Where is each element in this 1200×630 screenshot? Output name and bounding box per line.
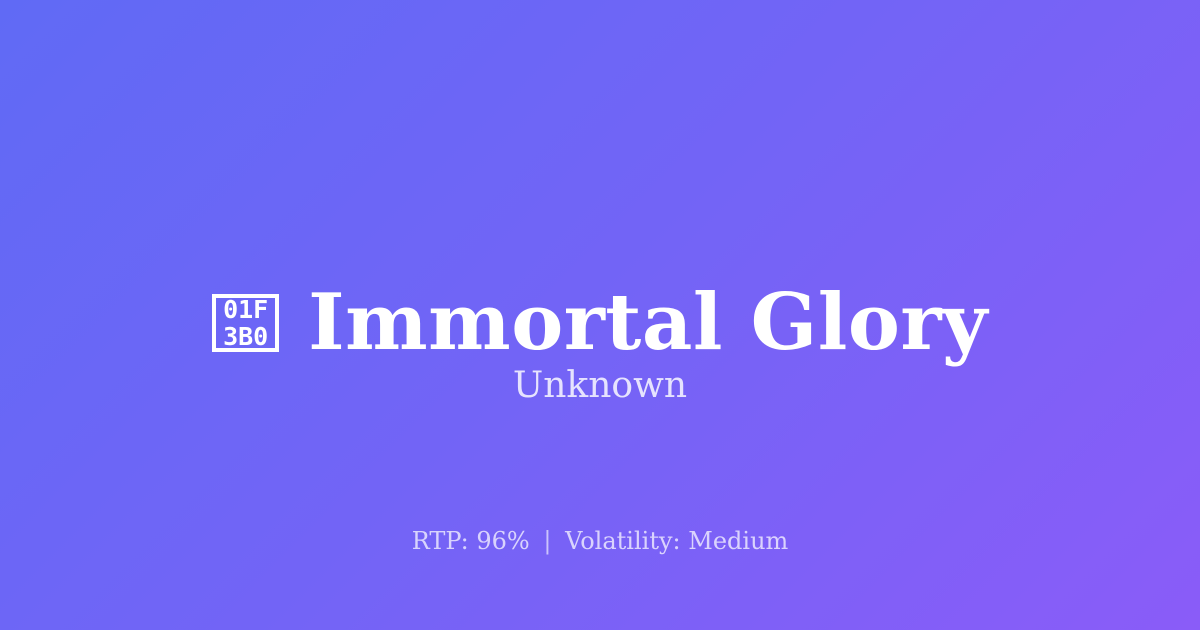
volatility-label: Volatility: bbox=[565, 527, 681, 555]
glyph-hex-bottom: 3B0 bbox=[223, 324, 268, 349]
og-preview-card: 01F 3B0 Immortal Glory Unknown RTP: 96% … bbox=[0, 0, 1200, 630]
glyph-hex-top: 01F bbox=[223, 297, 268, 322]
page-title: Immortal Glory bbox=[308, 284, 988, 362]
card-meta-line: RTP: 96% | Volatility: Medium bbox=[0, 527, 1200, 556]
rtp-label: RTP: bbox=[412, 527, 469, 555]
rtp-value: 96% bbox=[476, 527, 529, 555]
slot-machine-emoji-icon: 01F 3B0 bbox=[212, 294, 279, 352]
card-subtitle: Unknown bbox=[0, 364, 1200, 407]
meta-separator: | bbox=[537, 527, 557, 555]
volatility-value: Medium bbox=[688, 527, 788, 555]
